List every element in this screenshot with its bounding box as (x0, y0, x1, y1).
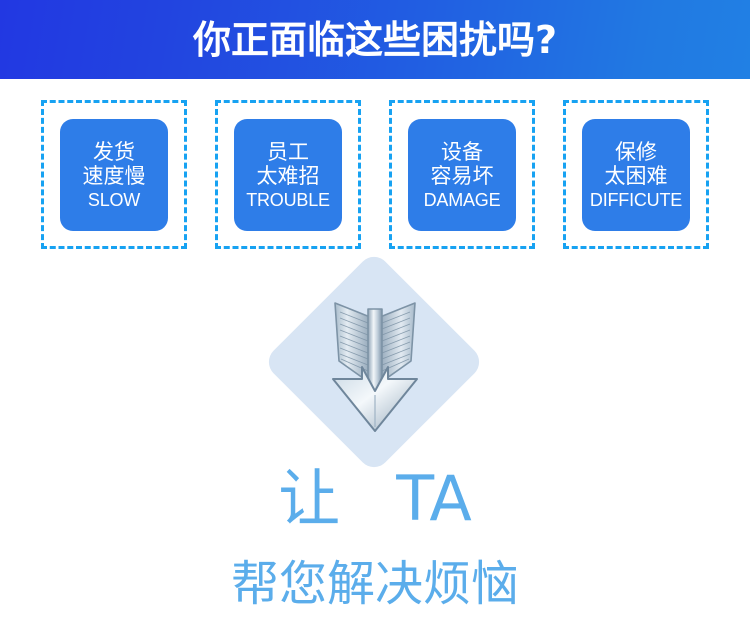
header-banner: 你正面临这些困扰吗? (0, 0, 750, 79)
promo-banner-page: 你正面临这些困扰吗? 发货 速度慢 SLOW 员工 太难招 TROUBLE 设备… (0, 0, 750, 643)
problem-card-trouble: 员工 太难招 TROUBLE (215, 100, 361, 249)
problem-card-line3: DAMAGE (424, 190, 501, 211)
problem-card-line1: 设备 (441, 140, 483, 165)
problem-card-line3: TROUBLE (246, 190, 330, 211)
problem-card-line1: 保修 (615, 140, 657, 165)
problem-card-slow: 发货 速度慢 SLOW (41, 100, 187, 249)
problem-card-box: 保修 太困难 DIFFICUTE (582, 119, 690, 231)
problem-card-line1: 员工 (267, 140, 309, 165)
problem-card-line2: 太难招 (257, 164, 320, 189)
page-title: 你正面临这些困扰吗? (193, 21, 557, 59)
problem-card-line2: 速度慢 (83, 164, 146, 189)
problem-card-line2: 太困难 (605, 164, 668, 189)
slogan-main-left: 让 (278, 462, 340, 535)
slogan-main: 让TA (0, 468, 750, 530)
problem-cards-row: 发货 速度慢 SLOW 员工 太难招 TROUBLE 设备 容易坏 DAMAGE… (0, 100, 750, 250)
problem-card-line3: SLOW (88, 190, 140, 211)
problem-card-box: 员工 太难招 TROUBLE (234, 119, 342, 231)
problem-card-line1: 发货 (93, 140, 135, 165)
problem-card-line2: 容易坏 (431, 164, 494, 189)
problem-card-difficult: 保修 太困难 DIFFICUTE (563, 100, 709, 249)
slogan-sub: 帮您解决烦恼 (0, 560, 750, 608)
slogan-main-right: TA (396, 462, 471, 535)
problem-card-damage: 设备 容易坏 DAMAGE (389, 100, 535, 249)
problem-card-line3: DIFFICUTE (590, 190, 682, 211)
hero-badge (295, 250, 455, 475)
down-arrow-dart-icon (327, 295, 423, 435)
problem-card-box: 设备 容易坏 DAMAGE (408, 119, 516, 231)
problem-card-box: 发货 速度慢 SLOW (60, 119, 168, 231)
